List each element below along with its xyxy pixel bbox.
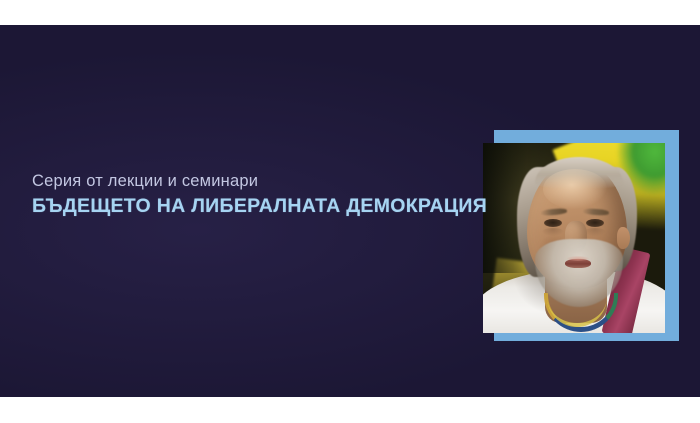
banner-eyebrow: Серия от лекции и семинари xyxy=(32,170,487,192)
portrait-photo: Портрет на възрастен мъж със сива коса и… xyxy=(483,143,665,333)
photo-forehead xyxy=(543,169,607,209)
banner-panel: Серия от лекции и семинари БЪДЕЩЕТО НА Л… xyxy=(0,25,700,397)
photo-eyebag-left xyxy=(542,228,564,236)
banner-container: Серия от лекции и семинари БЪДЕЩЕТО НА Л… xyxy=(0,0,700,423)
banner-text-block: Серия от лекции и семинари БЪДЕЩЕТО НА Л… xyxy=(32,170,487,218)
photo-eye-left xyxy=(544,219,562,227)
portrait-unit: Портрет на възрастен мъж със сива коса и… xyxy=(483,130,679,342)
banner-headline: БЪДЕЩЕТО НА ЛИБЕРАЛНАТА ДЕМОКРАЦИЯ xyxy=(32,194,487,218)
photo-eyebag-right xyxy=(584,228,606,236)
photo-eye-right xyxy=(586,219,604,227)
photo-lip-highlight xyxy=(567,256,589,261)
photo-ear xyxy=(617,227,630,249)
